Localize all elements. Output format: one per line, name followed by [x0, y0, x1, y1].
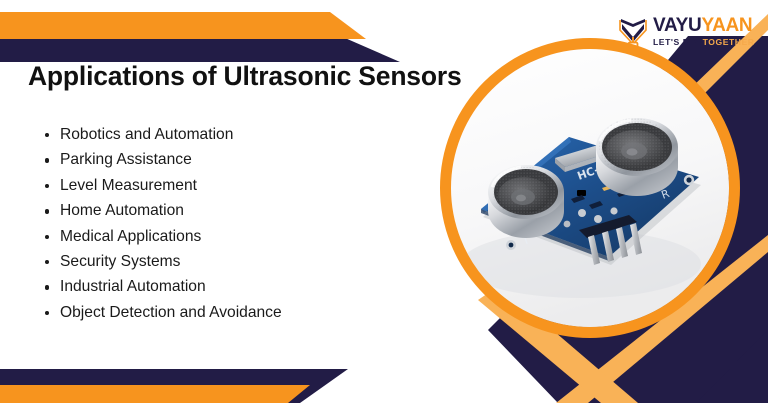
logo-brand-name: VAYUYAAN [653, 16, 755, 36]
vayuyaan-bird-icon [618, 14, 648, 50]
list-item: Robotics and Automation [60, 122, 282, 147]
sensor-image-circle: HC-SR04 T R [440, 38, 740, 338]
brand-logo[interactable]: VAYUYAAN LET'S FLY TOGETHER [618, 11, 763, 53]
logo-tagline-part2: TOGETHER [703, 37, 755, 47]
list-item: Medical Applications [60, 224, 282, 249]
logo-tagline-part1: LET'S FLY [653, 37, 703, 47]
logo-tagline: LET'S FLY TOGETHER [653, 37, 755, 48]
list-item: Object Detection and Avoidance [60, 300, 282, 325]
bottom-decorative-bands [0, 341, 420, 403]
list-item: Level Measurement [60, 173, 282, 198]
list-item: Home Automation [60, 198, 282, 223]
logo-wordmark: VAYUYAAN LET'S FLY TOGETHER [653, 16, 755, 48]
logo-brand-part2: YAAN [701, 15, 752, 36]
page-title: Applications of Ultrasonic Sensors [28, 61, 461, 92]
orange-ring [440, 38, 740, 338]
logo-brand-part1: VAYU [653, 15, 701, 36]
list-item: Parking Assistance [60, 147, 282, 172]
poster-canvas: HC-SR04 T R [0, 0, 768, 403]
list-item: Industrial Automation [60, 274, 282, 299]
list-item: Security Systems [60, 249, 282, 274]
top-decorative-bands [0, 0, 420, 62]
applications-list: Robotics and Automation Parking Assistan… [34, 122, 282, 325]
